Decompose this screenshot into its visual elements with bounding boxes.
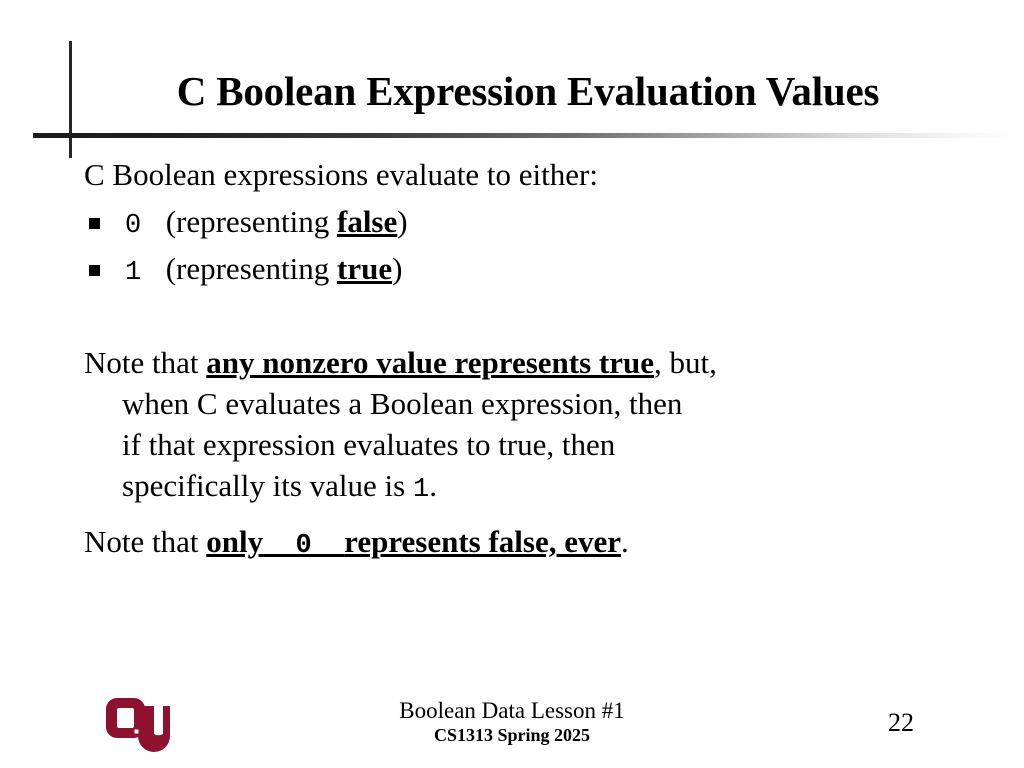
body-lead-line: C Boolean expressions evaluate to either… — [84, 155, 964, 195]
bullet-emphasis-text: true — [337, 251, 392, 286]
square-bullet-icon — [89, 265, 100, 276]
footer-lesson-title: Boolean Data Lesson #1 — [0, 698, 1024, 725]
note-line3-text: if that expression evaluates to true, th… — [122, 427, 615, 462]
footer-course-term: CS1313 Spring 2025 — [0, 725, 1024, 746]
square-bullet-icon — [89, 218, 100, 229]
note2-lead-text: Note that — [84, 524, 206, 559]
note-paragraph-nonzero: Note that any nonzero value represents t… — [84, 342, 964, 510]
note-line4-value: 1 — [413, 475, 429, 505]
bullet-emphasis-text: false — [337, 204, 397, 239]
note-block: Note that any nonzero value represents t… — [84, 342, 964, 565]
bullet-value: 1 — [125, 258, 141, 288]
title-horizontal-rule — [33, 133, 1017, 138]
title-vertical-rule — [69, 41, 72, 158]
note-line4-prefix-text: specifically its value is — [122, 468, 413, 503]
list-item: 1 (representing true) — [84, 246, 964, 294]
bullet-prefix-text: (representing — [166, 204, 337, 239]
note-tail-text: , but, — [654, 345, 717, 380]
note2-emphasis-post-text: represents false, ever — [344, 524, 621, 559]
note-line4-suffix-text: . — [429, 468, 437, 503]
slide-footer: Boolean Data Lesson #1 CS1313 Spring 202… — [0, 698, 1024, 746]
slide: C Boolean Expression Evaluation Values C… — [0, 0, 1024, 768]
list-item: 0 (representing false) — [84, 199, 964, 247]
slide-body: C Boolean expressions evaluate to either… — [84, 155, 964, 565]
note2-tail-text: . — [621, 524, 629, 559]
note2-emphasis-value: 0 — [263, 531, 344, 561]
bullet-list: 0 (representing false) 1 (representing t… — [84, 199, 964, 294]
bullet-suffix-text: ) — [397, 204, 407, 239]
page-number: 22 — [888, 708, 914, 738]
page-title: C Boolean Expression Evaluation Values — [78, 70, 978, 113]
note2-emphasis-group: only 0 represents false, ever — [206, 524, 621, 559]
bullet-suffix-text: ) — [392, 251, 402, 286]
note-lead-text: Note that — [84, 345, 206, 380]
bullet-prefix-text: (representing — [166, 251, 337, 286]
bullet-value: 0 — [125, 211, 141, 241]
note2-emphasis-pre-text: only — [206, 524, 263, 559]
note-emphasis-text: any nonzero value represents true — [206, 345, 654, 380]
note-paragraph-only-zero: Note that only 0 represents false, ever. — [84, 521, 964, 565]
note-line2-text: when C evaluates a Boolean expression, t… — [122, 386, 682, 421]
